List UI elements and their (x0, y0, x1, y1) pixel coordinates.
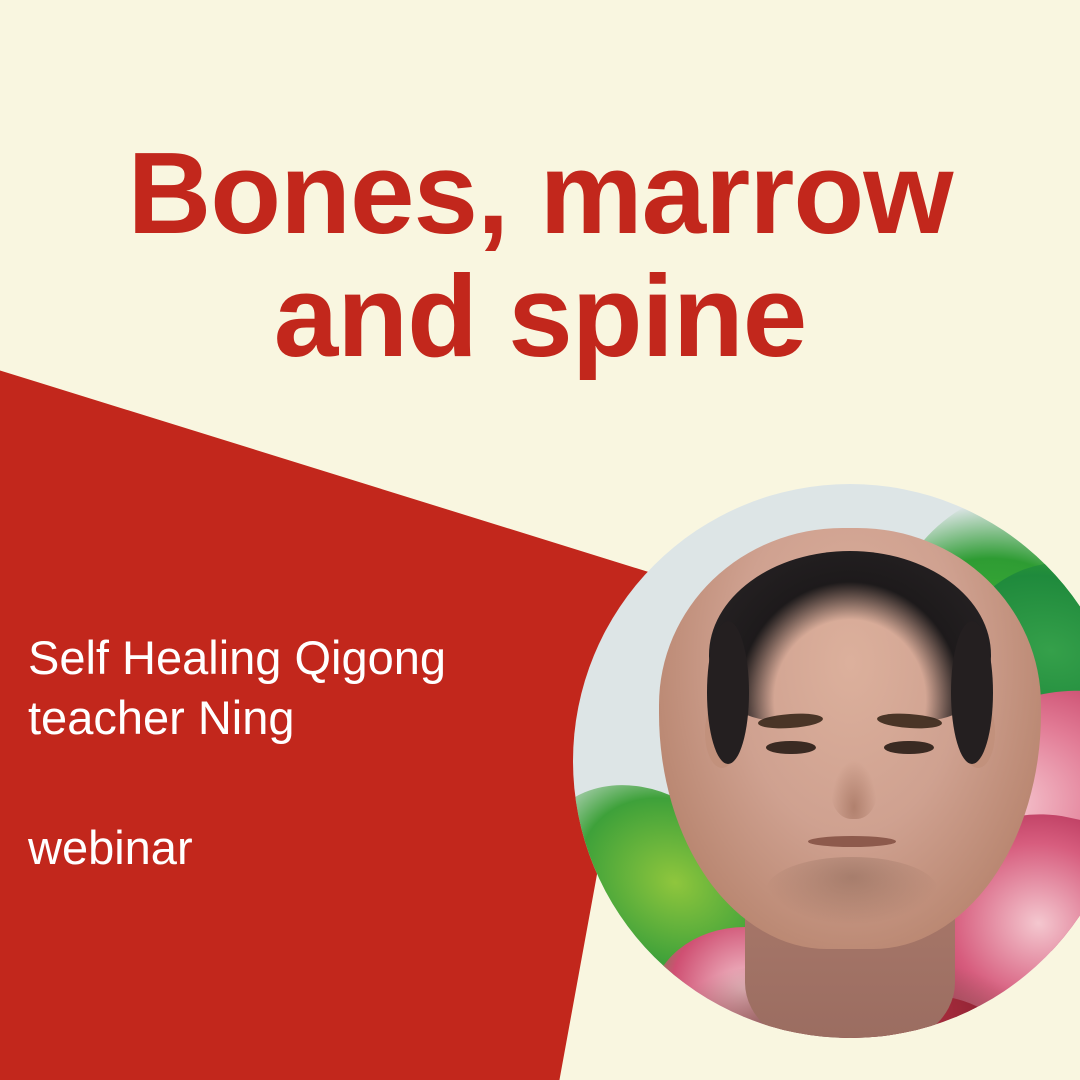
presenter-subtitle-line-1: Self Healing Qigong (28, 628, 568, 688)
portrait-nose (831, 760, 877, 819)
portrait-eye-right (884, 741, 934, 754)
portrait-avatar (573, 484, 1080, 1038)
page-title-line-2: and spine (28, 255, 1052, 378)
event-type-label: webinar (28, 822, 568, 874)
page-title-line-1: Bones, marrow (28, 132, 1052, 255)
portrait-eye-left (766, 741, 816, 754)
webinar-promo-poster: Bones, marrow and spine Self Healing Qig… (0, 0, 1080, 1080)
portrait-hair (709, 551, 992, 719)
portrait-photo (573, 484, 1080, 1038)
portrait-hair-side-left (707, 621, 749, 764)
page-title: Bones, marrow and spine (0, 132, 1080, 378)
subtitle-block: Self Healing Qigong teacher Ning webinar (28, 628, 568, 874)
presenter-subtitle: Self Healing Qigong teacher Ning (28, 628, 568, 748)
portrait-head (659, 528, 1041, 949)
portrait-chin-shadow (766, 857, 938, 924)
presenter-subtitle-line-2: teacher Ning (28, 688, 568, 748)
portrait-mouth (808, 836, 896, 847)
